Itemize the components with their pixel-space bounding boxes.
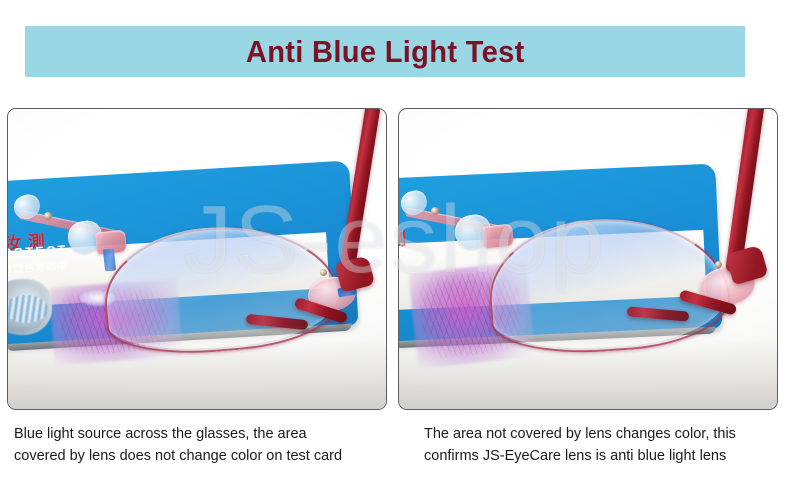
caption-left-line-1: Blue light source across the glasses, th… [14,423,386,445]
photo-scene-right: 測 CT 中 [399,109,777,409]
hinge-screw-right [715,261,722,268]
hinge-screw [44,212,52,220]
caption-left: Blue light source across the glasses, th… [14,423,386,467]
page-title: Anti Blue Light Test [246,34,525,70]
title-banner: Anti Blue Light Test [25,26,745,77]
caption-right: The area not covered by lens changes col… [424,423,784,467]
caption-left-line-2: covered by lens does not change color on… [14,445,386,467]
blue-light-blocked-photo: 汝 測 ROTECT 力口色方晒中 [7,108,387,410]
caption-right-line-2: confirms JS-EyeCare lens is anti blue li… [424,445,784,467]
hinge-screw [431,207,439,215]
blue-light-passed-photo: 測 CT 中 [398,108,778,410]
lens-endpiece-left [482,223,514,248]
caption-right-line-1: The area not covered by lens changes col… [424,423,784,445]
hinge-screw-right [320,269,327,276]
endpiece-blue-accent [103,248,116,271]
photo-scene-left: 汝 測 ROTECT 力口色方晒中 [8,109,386,409]
